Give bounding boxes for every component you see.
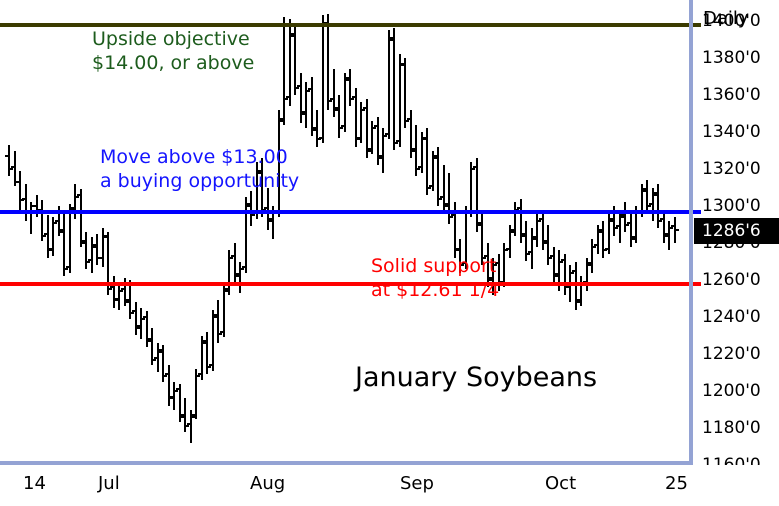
upside-objective-note-line1: Upside objective	[92, 28, 254, 52]
ohlc-range	[47, 215, 49, 258]
ohlc-open-tick	[308, 88, 311, 90]
ohlc-open-tick	[555, 273, 558, 275]
ohlc-open-tick	[517, 207, 520, 209]
ohlc-range	[316, 110, 318, 147]
ohlc-open-tick	[423, 137, 426, 139]
ohlc-range	[344, 73, 346, 132]
ohlc-open-tick	[148, 338, 151, 340]
buy-opportunity-note-line2: a buying opportunity	[100, 170, 299, 194]
ohlc-range	[283, 17, 285, 124]
ohlc-open-tick	[401, 63, 404, 65]
ohlc-open-tick	[302, 111, 305, 113]
ohlc-range	[69, 204, 71, 272]
ohlc-range	[338, 95, 340, 138]
support-annotation: Solid supportat $12.61 1/4	[371, 255, 499, 303]
ohlc-open-tick	[550, 255, 553, 257]
ohlc-range	[157, 343, 159, 373]
ohlc-open-tick	[44, 233, 47, 235]
ohlc-range	[553, 247, 555, 284]
ohlc-open-tick	[418, 166, 421, 168]
ohlc-range	[245, 197, 247, 273]
ohlc-open-tick	[192, 414, 195, 416]
ohlc-range	[327, 14, 329, 110]
ohlc-open-tick	[407, 118, 410, 120]
ohlc-open-tick	[137, 325, 140, 327]
ohlc-open-tick	[440, 196, 443, 198]
ohlc-range	[36, 195, 38, 217]
ohlc-open-tick	[49, 248, 52, 250]
ohlc-open-tick	[170, 396, 173, 398]
price-tick-label: 1240'0	[702, 307, 761, 327]
ohlc-open-tick	[352, 96, 355, 98]
price-tick-label: 1340'0	[702, 122, 761, 142]
ohlc-range	[25, 184, 27, 221]
ohlc-range	[8, 145, 10, 176]
ohlc-open-tick	[110, 286, 113, 288]
ohlc-range	[388, 30, 390, 139]
ohlc-range	[602, 221, 604, 258]
ohlc-open-tick	[154, 357, 157, 359]
ohlc-open-tick	[341, 125, 344, 127]
ohlc-open-tick	[434, 155, 437, 157]
ohlc-open-tick	[319, 137, 322, 139]
ohlc-open-tick	[225, 288, 228, 290]
ohlc-range	[80, 189, 82, 246]
ohlc-open-tick	[335, 107, 338, 109]
ohlc-open-tick	[291, 33, 294, 35]
ohlc-open-tick	[363, 107, 366, 109]
ohlc-open-tick	[539, 218, 542, 220]
time-tick-label: Aug	[250, 473, 285, 494]
ohlc-range	[234, 243, 236, 284]
ohlc-open-tick	[456, 248, 459, 250]
ohlc-open-tick	[346, 77, 349, 79]
ohlc-range	[135, 302, 137, 335]
ohlc-open-tick	[379, 155, 382, 157]
ohlc-open-tick	[544, 240, 547, 242]
ohlc-open-tick	[528, 251, 531, 253]
solid-support-axis-stub	[693, 282, 701, 286]
support-note-line2: at $12.61 1/4	[371, 279, 499, 303]
ohlc-open-tick	[390, 37, 393, 39]
ohlc-range	[85, 232, 87, 269]
support-note-line1: Solid support	[371, 255, 499, 279]
ohlc-open-tick	[33, 205, 36, 207]
ohlc-open-tick	[22, 198, 25, 200]
solid-support-line	[0, 282, 693, 286]
ohlc-open-tick	[11, 166, 14, 168]
ohlc-open-tick	[203, 340, 206, 342]
ohlc-open-tick	[5, 155, 8, 157]
ohlc-range	[564, 254, 566, 295]
ohlc-open-tick	[412, 148, 415, 150]
ohlc-open-tick	[214, 314, 217, 316]
price-tick-label: 1300'0	[702, 196, 761, 216]
ohlc-open-tick	[478, 222, 481, 224]
ohlc-open-tick	[82, 242, 85, 244]
ohlc-open-tick	[181, 414, 184, 416]
period-label: Daily	[703, 8, 749, 29]
price-tick-label: 1200'0	[702, 381, 761, 401]
ohlc-open-tick	[649, 203, 652, 205]
price-tick-label: 1260'0	[702, 270, 761, 290]
ohlc-range	[531, 228, 533, 269]
ohlc-range	[525, 221, 527, 262]
ohlc-range	[91, 237, 93, 272]
ohlc-range	[217, 300, 219, 343]
ohlc-range	[140, 308, 142, 339]
upside-objective-line	[0, 23, 693, 27]
ohlc-open-tick	[159, 349, 162, 351]
ohlc-open-tick	[264, 207, 267, 209]
ohlc-range	[646, 180, 648, 213]
ohlc-open-tick	[132, 310, 135, 312]
time-axis[interactable]: 14JulAugSepOct25	[0, 465, 779, 506]
price-tick-label: 1380'0	[702, 48, 761, 68]
price-tick-label: 1360'0	[702, 85, 761, 105]
ohlc-open-tick	[66, 266, 69, 268]
ohlc-open-tick	[599, 229, 602, 231]
ohlc-open-tick	[60, 229, 63, 231]
price-tick-label: 1180'0	[702, 418, 761, 438]
ohlc-range	[168, 365, 170, 406]
ohlc-open-tick	[104, 236, 107, 238]
ohlc-open-tick	[176, 388, 179, 390]
time-tick-label: Oct	[545, 473, 576, 494]
ohlc-open-tick	[357, 137, 360, 139]
ohlc-range	[30, 202, 32, 233]
ohlc-open-tick	[280, 118, 283, 120]
ohlc-close-tick	[676, 229, 679, 231]
ohlc-range	[19, 171, 21, 212]
ohlc-range	[118, 282, 120, 310]
ohlc-open-tick	[121, 288, 124, 290]
upside-objective-axis-stub	[693, 23, 701, 27]
ohlc-range	[212, 310, 214, 371]
ohlc-open-tick	[77, 194, 80, 196]
ohlc-open-tick	[577, 299, 580, 301]
ohlc-open-tick	[330, 98, 333, 100]
buy-opportunity-annotation: Move above $13.00a buying opportunity	[100, 146, 299, 194]
ohlc-open-tick	[632, 236, 635, 238]
upside-objective-note-line2: $14.00, or above	[92, 52, 254, 76]
ohlc-open-tick	[55, 220, 58, 222]
ohlc-open-tick	[588, 262, 591, 264]
upside-objective-annotation: Upside objective$14.00, or above	[92, 28, 254, 76]
ohlc-range	[624, 202, 626, 232]
ohlc-open-tick	[605, 248, 608, 250]
ohlc-open-tick	[429, 185, 432, 187]
plot-area[interactable]: Upside objective$14.00, or above Move ab…	[0, 0, 693, 464]
ohlc-open-tick	[665, 233, 668, 235]
ohlc-open-tick	[627, 222, 630, 224]
ohlc-open-tick	[269, 218, 272, 220]
soybeans-price-chart: Upside objective$14.00, or above Move ab…	[0, 0, 779, 506]
ohlc-open-tick	[396, 140, 399, 142]
ohlc-open-tick	[242, 266, 245, 268]
ohlc-open-tick	[126, 299, 129, 301]
ohlc-open-tick	[165, 373, 168, 375]
ohlc-open-tick	[572, 270, 575, 272]
ohlc-range	[173, 382, 175, 410]
ohlc-open-tick	[671, 225, 674, 227]
ohlc-open-tick	[115, 298, 118, 300]
ohlc-open-tick	[93, 244, 96, 246]
ohlc-range	[206, 332, 208, 375]
ohlc-open-tick	[594, 244, 597, 246]
ohlc-open-tick	[445, 203, 448, 205]
ohlc-range	[74, 184, 76, 219]
ohlc-open-tick	[236, 273, 239, 275]
ohlc-range	[322, 15, 324, 143]
time-tick-label: Jul	[98, 473, 120, 494]
ohlc-open-tick	[451, 214, 454, 216]
ohlc-open-tick	[610, 218, 613, 220]
ohlc-open-tick	[660, 218, 663, 220]
time-tick-label: 14	[23, 473, 46, 494]
buy-opportunity-note-line1: Move above $13.00	[100, 146, 299, 170]
price-tick-label: 1220'0	[702, 344, 761, 364]
buy-trigger-axis-stub	[693, 210, 701, 214]
ohlc-open-tick	[209, 364, 212, 366]
ohlc-open-tick	[313, 127, 316, 129]
ohlc-open-tick	[643, 188, 646, 190]
ohlc-open-tick	[247, 203, 250, 205]
ohlc-range	[399, 54, 401, 147]
ohlc-open-tick	[198, 373, 201, 375]
time-tick-label: 25	[665, 473, 688, 494]
ohlc-open-tick	[533, 236, 536, 238]
ohlc-open-tick	[374, 125, 377, 127]
ohlc-open-tick	[473, 166, 476, 168]
ohlc-range	[349, 69, 351, 106]
ohlc-open-tick	[143, 316, 146, 318]
price-tick-label: 1320'0	[702, 159, 761, 179]
ohlc-open-tick	[621, 214, 624, 216]
ohlc-open-tick	[88, 259, 91, 261]
ohlc-open-tick	[385, 133, 388, 135]
ohlc-open-tick	[506, 248, 509, 250]
ohlc-open-tick	[368, 148, 371, 150]
ohlc-open-tick	[297, 85, 300, 87]
ohlc-open-tick	[654, 192, 657, 194]
ohlc-range	[663, 210, 665, 243]
ohlc-range	[393, 28, 395, 150]
ohlc-open-tick	[231, 255, 234, 257]
ohlc-open-tick	[561, 259, 564, 261]
ohlc-open-tick	[187, 423, 190, 425]
ohlc-open-tick	[71, 207, 74, 209]
ohlc-open-tick	[99, 257, 102, 259]
ohlc-range	[547, 225, 549, 266]
buy-trigger-line	[0, 210, 693, 214]
ohlc-range	[300, 73, 302, 123]
time-tick-label: Sep	[400, 473, 434, 494]
ohlc-range	[542, 210, 544, 251]
ohlc-open-tick	[286, 96, 289, 98]
ohlc-open-tick	[16, 181, 19, 183]
ohlc-open-tick	[522, 233, 525, 235]
ohlc-range	[630, 213, 632, 246]
ohlc-range	[96, 234, 98, 265]
chart-title: January Soybeans	[355, 362, 597, 393]
ohlc-open-tick	[511, 229, 514, 231]
ohlc-open-tick	[616, 225, 619, 227]
ohlc-open-tick	[220, 331, 223, 333]
last-price-badge: 1286'6	[694, 218, 779, 244]
